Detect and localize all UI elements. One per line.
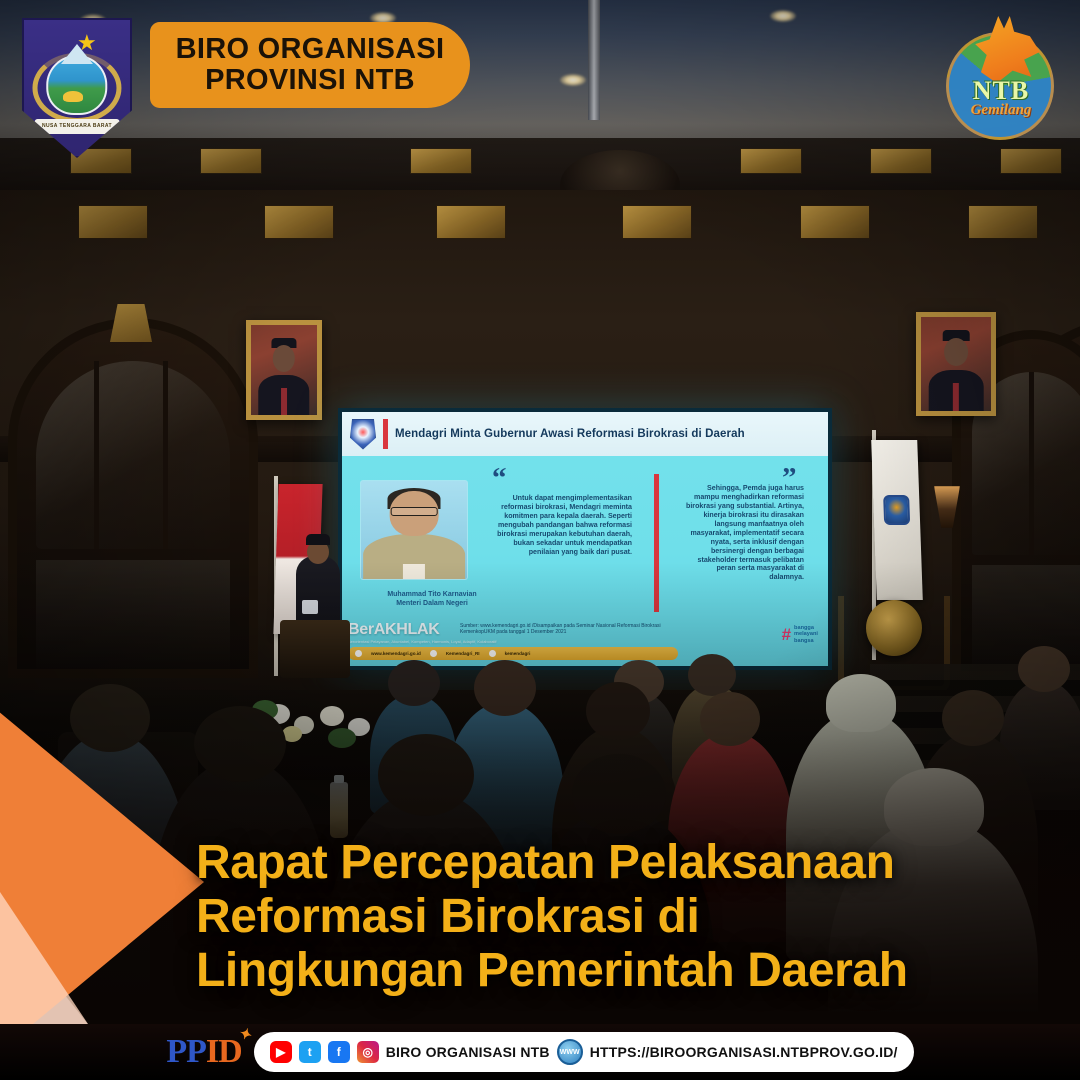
ppid-logo: PPID✦	[166, 1035, 241, 1069]
wall-gold-panel	[968, 205, 1038, 239]
portrait-tie	[281, 388, 287, 415]
audience-head	[378, 734, 474, 816]
globe-icon: WWW	[557, 1039, 583, 1065]
portrait-head	[944, 338, 968, 366]
gold-panel	[740, 148, 802, 174]
slide-speaker-name: Muhammad Tito Karnavian	[372, 590, 492, 599]
ceiling-rail	[588, 0, 600, 120]
framed-portrait-left	[246, 320, 322, 420]
audience-head	[884, 768, 984, 846]
wall-gold-panel	[622, 205, 692, 239]
footer-bar: PPID✦ ▶ t f ◎ BIRO ORGANISASI NTB WWW HT…	[0, 1024, 1080, 1080]
audience-head	[1018, 646, 1070, 692]
berakhlak-word: BerAKHLAK	[348, 621, 440, 638]
projection-screen: Mendagri Minta Gubernur Awasi Reformasi …	[338, 408, 832, 670]
gold-panel	[410, 148, 472, 174]
poster-canvas: Mendagri Minta Gubernur Awasi Reformasi …	[0, 0, 1080, 1080]
main-title: Rapat Percepatan Pelaksanaan Reformasi B…	[196, 836, 1066, 997]
audience-head	[826, 674, 896, 732]
speaker-cap	[306, 534, 330, 545]
slide-divider	[654, 474, 659, 612]
ceiling-light	[770, 10, 796, 22]
gold-panel	[1000, 148, 1062, 174]
arch-mullion	[94, 361, 99, 549]
ceiling-light	[560, 74, 586, 86]
org-name-banner: BIRO ORGANISASI PROVINSI NTB	[150, 22, 470, 108]
audience-head	[688, 654, 736, 696]
water-bottle	[330, 782, 348, 838]
footer-website-url[interactable]: HTTPS://BIROORGANISASI.NTBPROV.GO.ID/	[590, 1044, 898, 1060]
slide-speaker-block: Muhammad Tito Karnavian Menteri Dalam Ne…	[372, 590, 492, 609]
portrait-tie	[953, 383, 959, 411]
banner-line-2: PROVINSI NTB	[205, 65, 415, 96]
arch-glass	[36, 361, 231, 549]
flower-leaf	[328, 728, 356, 748]
banner-line-1: BIRO ORGANISASI	[176, 34, 445, 65]
slide-quote-right: Sehingga, Pemda juga harus mampu menghad…	[682, 484, 804, 582]
slide-accent-bar	[383, 419, 388, 449]
audience-head	[474, 660, 536, 716]
footer-contact-pill: ▶ t f ◎ BIRO ORGANISASI NTB WWW HTTPS://…	[254, 1032, 914, 1072]
institution-flag	[871, 440, 923, 600]
slide-source-line2: KemenkopUKM pada tanggal 1 Desember 2021	[460, 629, 661, 636]
audience-head	[194, 706, 286, 782]
audience-head	[942, 690, 1004, 746]
ppid-id: ID	[206, 1033, 242, 1070]
wall-gold-panel	[800, 205, 870, 239]
ppid-flame-icon: ✦	[237, 1027, 253, 1045]
speaker-photo	[360, 480, 468, 580]
slide-title: Mendagri Minta Gubernur Awasi Reformasi …	[395, 427, 745, 441]
gemilang-subtitle: Gemilang	[938, 102, 1064, 119]
arch-mullion	[163, 361, 168, 549]
speaker-photo-glasses	[391, 507, 438, 516]
ntb-gemilang-logo: NTB Gemilang	[938, 14, 1064, 146]
footer-account-name: BIRO ORGANISASI NTB	[386, 1044, 550, 1060]
ppid-pp: PP	[166, 1033, 206, 1070]
facebook-icon[interactable]: f	[328, 1041, 350, 1063]
gold-panel	[200, 148, 262, 174]
youtube-icon[interactable]: ▶	[270, 1041, 292, 1063]
portrait-head	[273, 345, 295, 372]
kemendagri-emblem-icon	[350, 419, 376, 450]
slide-speaker-role: Menteri Dalam Negeri	[372, 599, 492, 608]
speaker-photo-shirt	[403, 564, 425, 579]
quote-open-icon: “	[492, 464, 507, 493]
bangga-line2: melayani	[794, 631, 818, 637]
framed-portrait-right	[916, 312, 996, 416]
hall-arch-left	[8, 318, 258, 678]
flag-emblem	[883, 495, 910, 525]
crest-ribbon: NUSA TENGGARA BARAT	[35, 119, 120, 134]
main-title-line-3: Lingkungan Pemerintah Daerah	[196, 944, 1066, 998]
slide-source: Sumber: www.kemendagri.go.id /Disampaika…	[460, 623, 661, 637]
twitter-icon[interactable]: t	[299, 1041, 321, 1063]
audience-head	[700, 692, 760, 746]
wall-gold-panel	[436, 205, 506, 239]
wall-gold-panel	[78, 205, 148, 239]
flower	[320, 706, 344, 726]
crest-mountain	[61, 44, 93, 64]
wall-gold-panel	[264, 205, 334, 239]
speaker-photo-body	[363, 534, 465, 579]
arch-mullion	[1029, 372, 1034, 555]
slide-header: Mendagri Minta Gubernur Awasi Reformasi …	[342, 412, 828, 456]
main-title-line-1: Rapat Percepatan Pelaksanaan	[196, 836, 1066, 890]
main-title-line-2: Reformasi Birokrasi di	[196, 890, 1066, 944]
audience-head	[586, 682, 650, 740]
audience-head	[388, 660, 440, 706]
gold-panel	[870, 148, 932, 174]
audience-head	[572, 754, 666, 834]
speaker-badge	[302, 600, 318, 614]
slide-source-line1: Sumber: www.kemendagri.go.id /Disampaika…	[460, 623, 661, 630]
instagram-icon[interactable]: ◎	[357, 1041, 379, 1063]
crest-deer-icon	[63, 91, 83, 102]
audience-head	[70, 684, 150, 752]
presentation-slide: Mendagri Minta Gubernur Awasi Reformasi …	[342, 412, 828, 666]
slide-quote-left: Untuk dapat mengimplementasikan reformas…	[492, 494, 632, 557]
